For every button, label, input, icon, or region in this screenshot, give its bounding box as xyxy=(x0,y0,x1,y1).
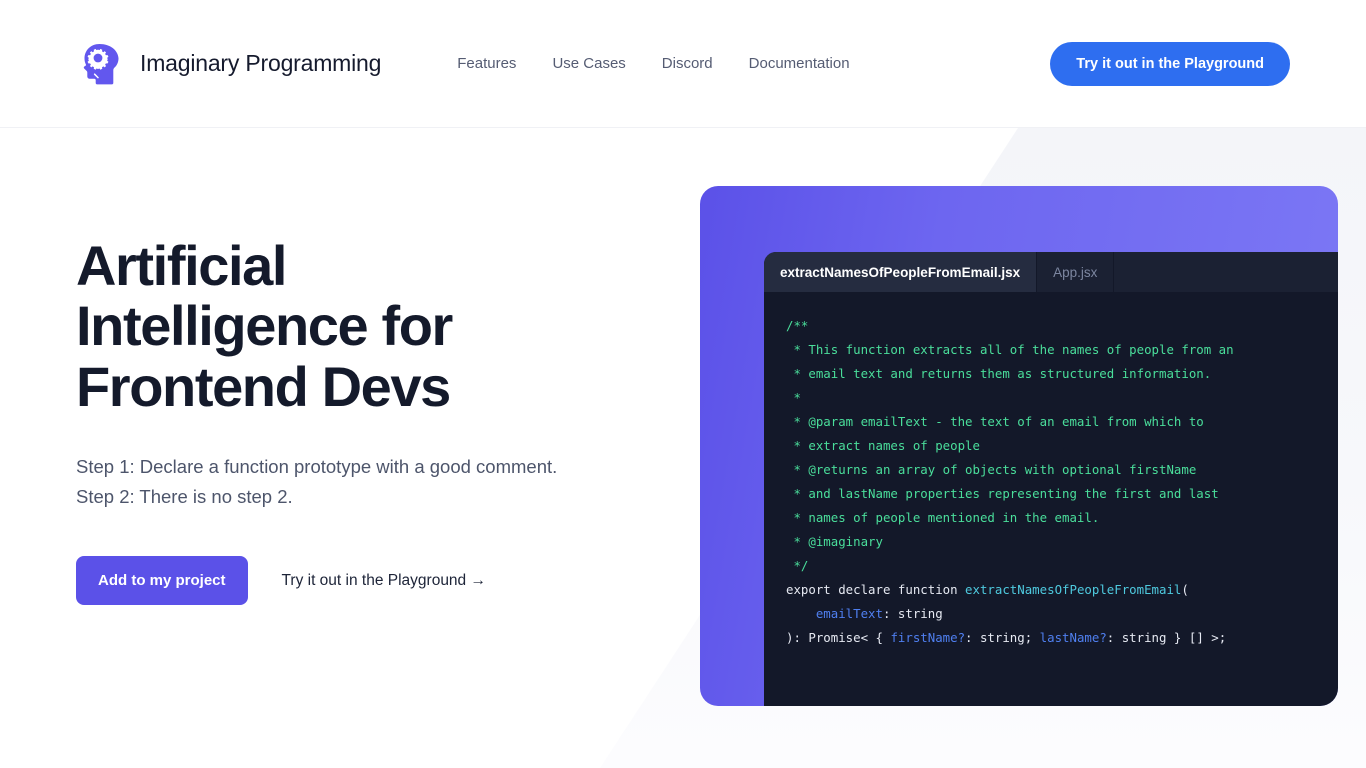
code-token-param: firstName? xyxy=(890,630,965,645)
hero-content: Artificial Intelligence for Frontend Dev… xyxy=(76,128,676,605)
code-token-plain: : string; xyxy=(965,630,1040,645)
code-token-plain: ( xyxy=(1181,582,1188,597)
code-token-param: emailText xyxy=(816,606,883,621)
code-line: emailText: string xyxy=(786,602,1338,626)
site-header: Imaginary Programming Features Use Cases… xyxy=(0,0,1366,128)
editor-tab-app[interactable]: App.jsx xyxy=(1037,252,1114,292)
hero-actions: Add to my project Try it out in the Play… xyxy=(76,556,676,605)
editor-code-area[interactable]: /** * This function extracts all of the … xyxy=(764,292,1338,706)
step-line-1: Step 1: Declare a function prototype wit… xyxy=(76,452,676,482)
editor-tabbar: extractNamesOfPeopleFromEmail.jsx App.js… xyxy=(764,252,1338,292)
code-token-comment: */ xyxy=(786,558,808,573)
code-token-comment: * extract names of people xyxy=(786,438,980,453)
code-token-comment: * and lastName properties representing t… xyxy=(786,486,1219,501)
playground-link[interactable]: Try it out in the Playground → xyxy=(282,572,486,590)
code-token-plain: : string } [] >; xyxy=(1107,630,1226,645)
code-token-comment: /** xyxy=(786,318,808,333)
code-token-comment: * xyxy=(786,390,801,405)
code-token-param: lastName? xyxy=(1040,630,1107,645)
code-line: * xyxy=(786,386,1338,410)
code-token-comment: * names of people mentioned in the email… xyxy=(786,510,1099,525)
code-line: */ xyxy=(786,554,1338,578)
code-line: * @imaginary xyxy=(786,530,1338,554)
code-line: /** xyxy=(786,314,1338,338)
page-title: Artificial Intelligence for Frontend Dev… xyxy=(76,236,676,417)
code-token-plain: export declare function xyxy=(786,582,965,597)
code-line: * extract names of people xyxy=(786,434,1338,458)
title-line-1: Artificial xyxy=(76,234,286,297)
code-token-comment: * @imaginary xyxy=(786,534,883,549)
code-token-plain xyxy=(786,606,816,621)
code-token-plain: ): Promise< { xyxy=(786,630,890,645)
code-token-comment: * @returns an array of objects with opti… xyxy=(786,462,1196,477)
code-line: * @param emailText - the text of an emai… xyxy=(786,410,1338,434)
code-line: * email text and returns them as structu… xyxy=(786,362,1338,386)
code-line: * names of people mentioned in the email… xyxy=(786,506,1338,530)
header-playground-button[interactable]: Try it out in the Playground xyxy=(1050,42,1290,86)
code-token-comment: * @param emailText - the text of an emai… xyxy=(786,414,1204,429)
add-to-my-project-button[interactable]: Add to my project xyxy=(76,556,248,605)
brand-name: Imaginary Programming xyxy=(140,50,381,77)
head-gear-icon xyxy=(76,40,124,88)
code-token-comment: * This function extracts all of the name… xyxy=(786,342,1234,357)
step-line-2: Step 2: There is no step 2. xyxy=(76,482,676,512)
code-token-plain: : string xyxy=(883,606,943,621)
brand-logo-link[interactable]: Imaginary Programming xyxy=(76,40,381,88)
nav-item-documentation[interactable]: Documentation xyxy=(731,45,868,82)
title-line-2: Intelligence for xyxy=(76,294,452,357)
nav-item-discord[interactable]: Discord xyxy=(644,45,731,82)
code-showcase-card: extractNamesOfPeopleFromEmail.jsx App.js… xyxy=(700,186,1338,706)
code-line: ): Promise< { firstName?: string; lastNa… xyxy=(786,626,1338,650)
nav-item-features[interactable]: Features xyxy=(439,45,534,82)
code-line: * @returns an array of objects with opti… xyxy=(786,458,1338,482)
editor-tab-extractnamesofpeoplefromemail[interactable]: extractNamesOfPeopleFromEmail.jsx xyxy=(764,252,1037,292)
code-token-comment: * email text and returns them as structu… xyxy=(786,366,1211,381)
code-line: * This function extracts all of the name… xyxy=(786,338,1338,362)
code-editor: extractNamesOfPeopleFromEmail.jsx App.js… xyxy=(764,252,1338,706)
hero-subtext: Step 1: Declare a function prototype wit… xyxy=(76,452,676,512)
title-line-3: Frontend Devs xyxy=(76,355,450,418)
code-line: * and lastName properties representing t… xyxy=(786,482,1338,506)
code-line: export declare function extractNamesOfPe… xyxy=(786,578,1338,602)
nav-item-use-cases[interactable]: Use Cases xyxy=(534,45,643,82)
primary-navigation: Features Use Cases Discord Documentation xyxy=(439,45,867,82)
code-token-fn: extractNamesOfPeopleFromEmail xyxy=(965,582,1181,597)
